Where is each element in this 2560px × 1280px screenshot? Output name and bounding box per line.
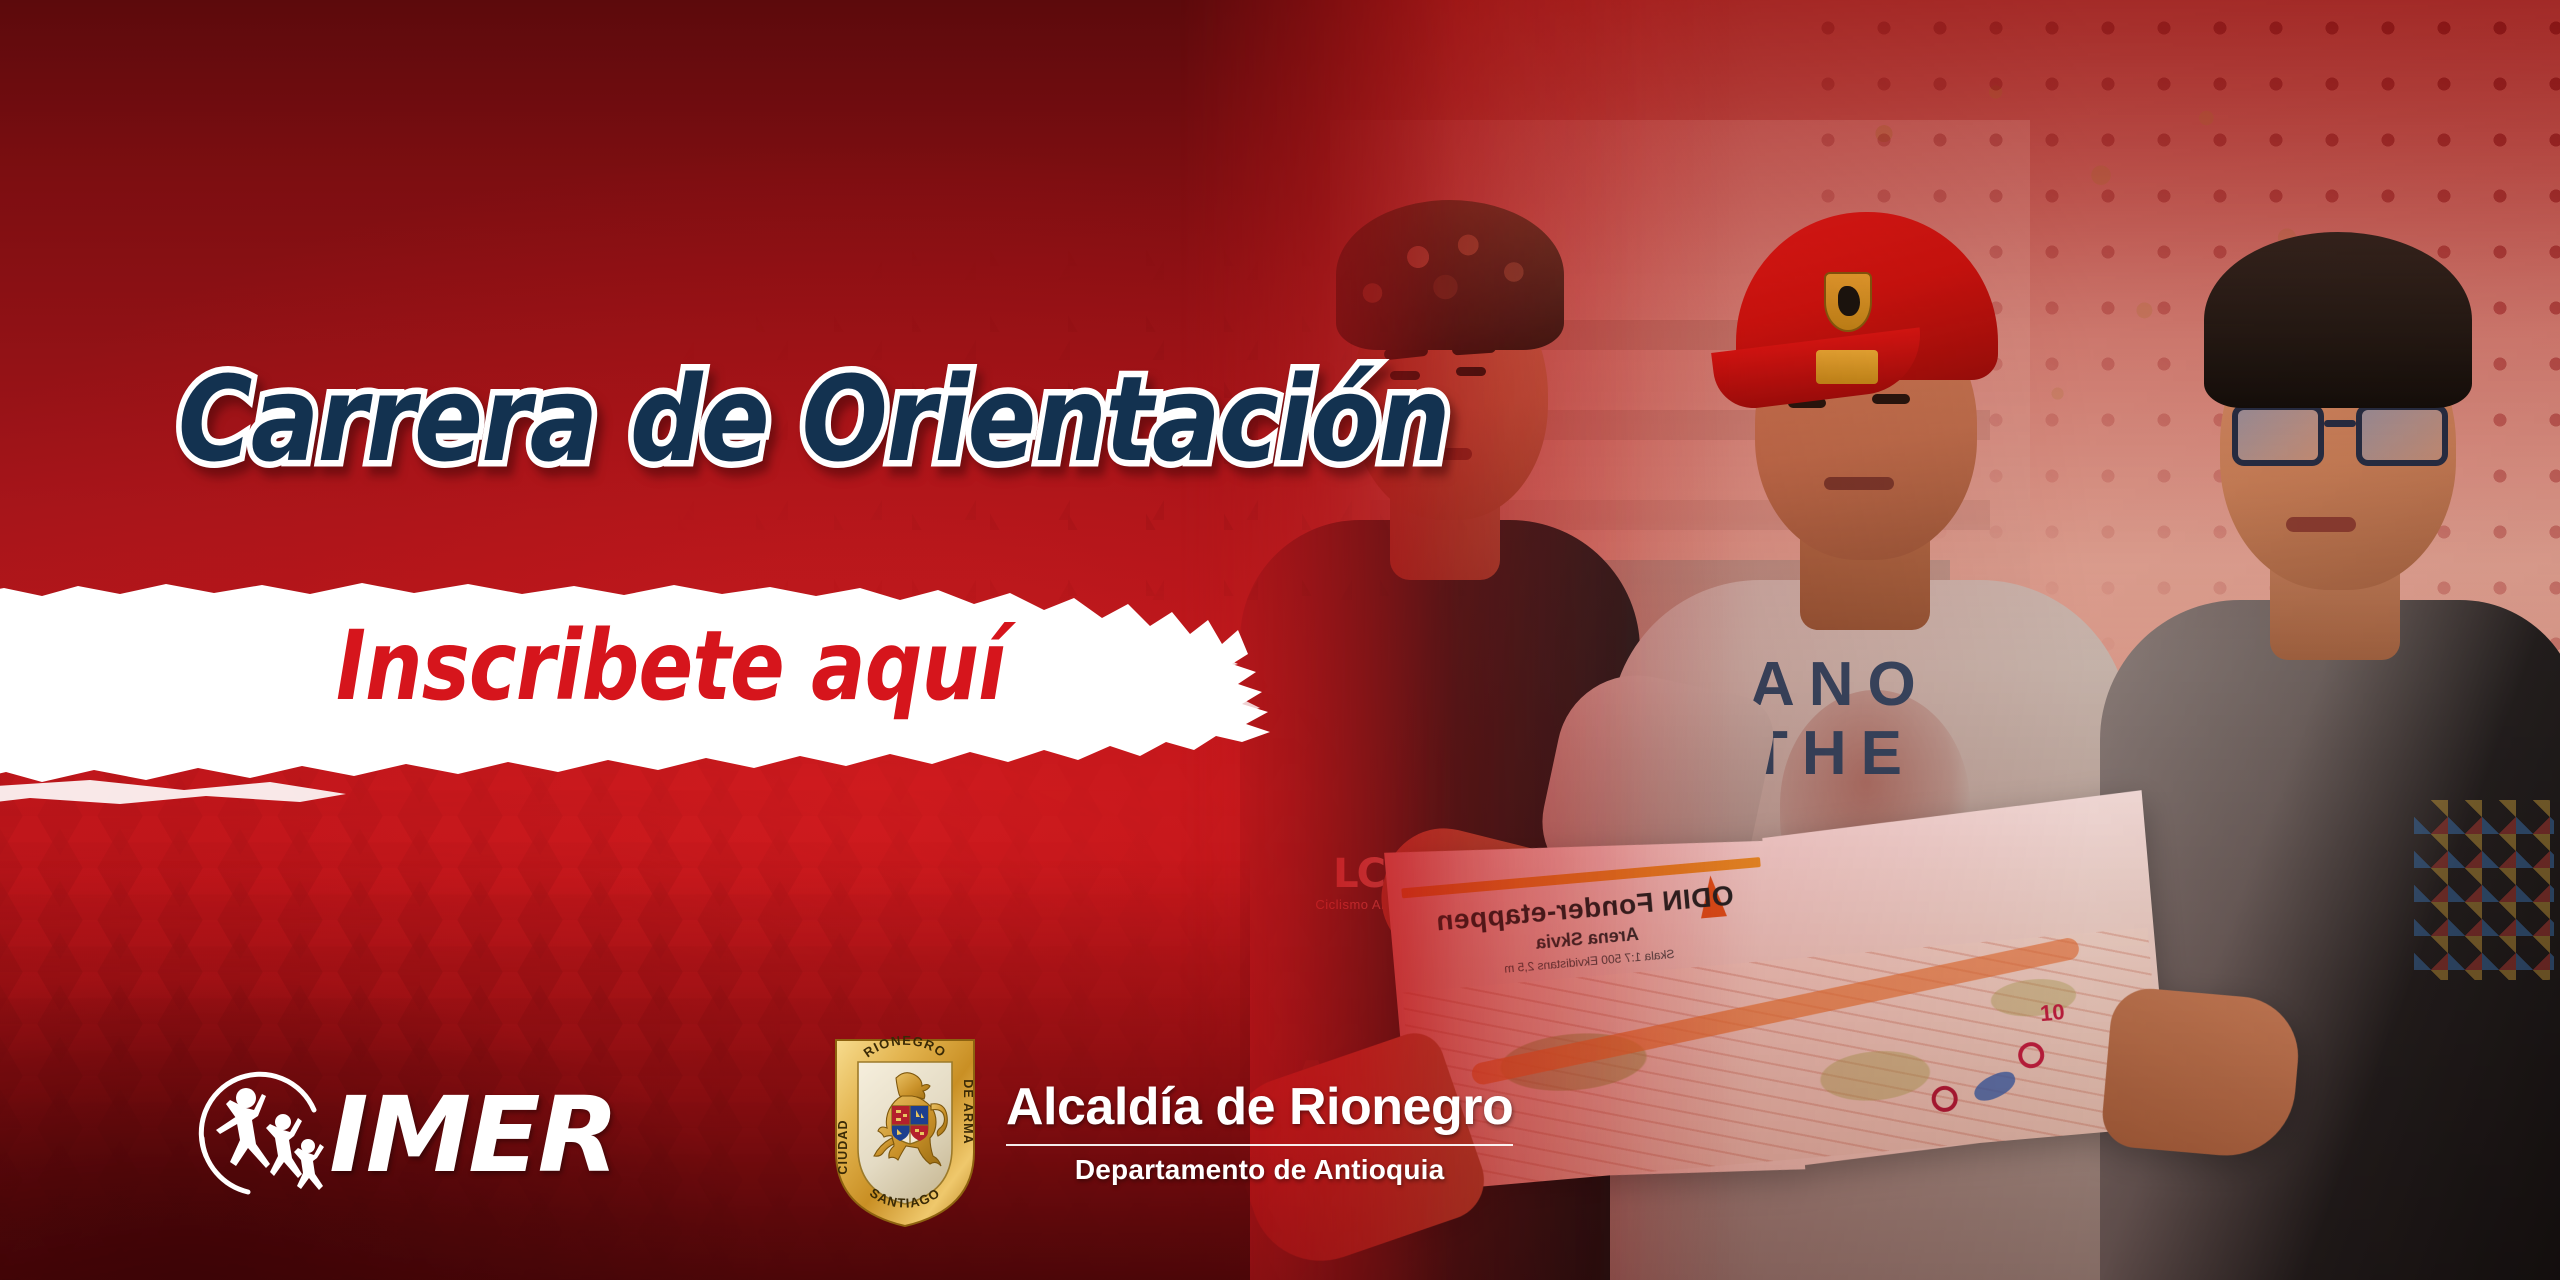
imer-logo: IMER	[190, 1060, 613, 1210]
alcaldia-logo: RIONEGRO SANTIAGO CIUDAD DE ARMA Alcaldí…	[830, 1034, 1513, 1230]
svg-text:DE ARMA: DE ARMA	[961, 1079, 975, 1145]
rionegro-coat-of-arms-icon: RIONEGRO SANTIAGO CIUDAD DE ARMA	[830, 1034, 980, 1230]
alcaldia-text-block: Alcaldía de Rionegro Departamento de Ant…	[1006, 1078, 1513, 1185]
page-title: Carrera de Orientación	[178, 360, 1449, 478]
alcaldia-title: Alcaldía de Rionegro	[1006, 1078, 1513, 1136]
promo-banner: ANT LCA Ciclismo Antioquia ANO THE	[0, 0, 2560, 1280]
alcaldia-divider	[1006, 1144, 1513, 1146]
logo-strip: IMER	[0, 980, 1560, 1280]
imer-wordmark: IMER	[329, 1083, 616, 1187]
three-jumping-figures-circle-icon	[190, 1060, 340, 1210]
alcaldia-subtitle: Departamento de Antioquia	[1006, 1154, 1513, 1186]
svg-text:CIUDAD: CIUDAD	[836, 1119, 850, 1174]
cta-text[interactable]: Inscribete aquí	[336, 618, 1005, 714]
